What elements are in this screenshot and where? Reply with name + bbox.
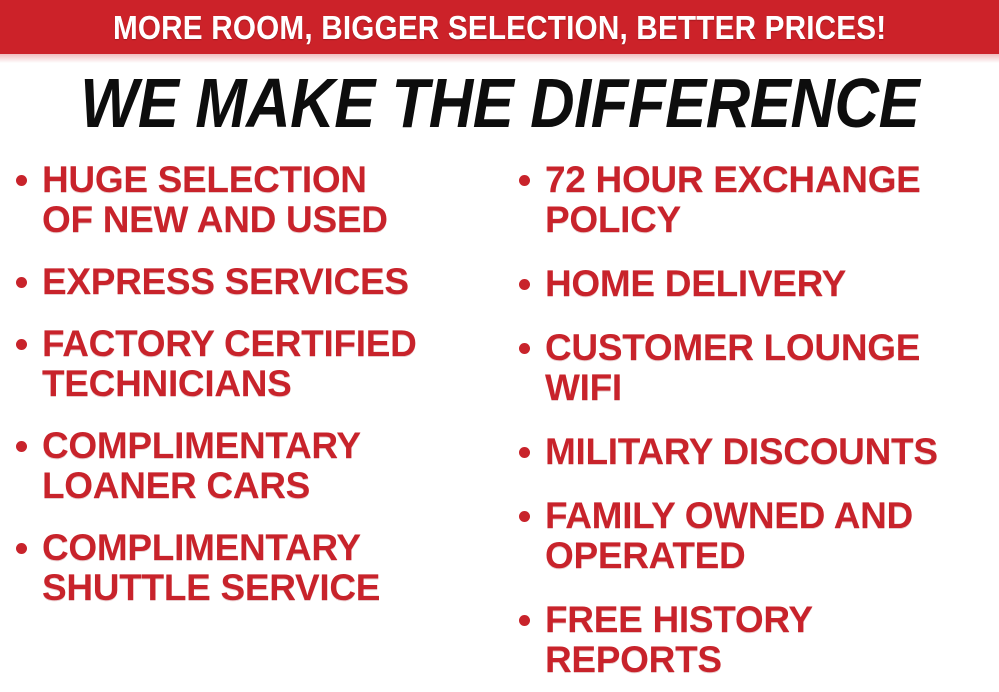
feature-label: MILITARY DISCOUNTS bbox=[545, 432, 997, 472]
list-item: COMPLIMENTARY SHUTTLE SERVICE bbox=[16, 528, 501, 608]
feature-label: HUGE SELECTION OF NEW AND USED bbox=[42, 160, 501, 240]
feature-label: COMPLIMENTARY LOANER CARS bbox=[42, 426, 501, 506]
feature-label: FREE HISTORY REPORTS bbox=[545, 600, 997, 680]
list-item: FAMILY OWNED AND OPERATED bbox=[519, 496, 997, 576]
feature-label: HOME DELIVERY bbox=[545, 264, 997, 304]
feature-label: FAMILY OWNED AND OPERATED bbox=[545, 496, 997, 576]
promo-banner-text: MORE ROOM, BIGGER SELECTION, BETTER PRIC… bbox=[113, 11, 886, 44]
feature-label: 72 HOUR EXCHANGE POLICY bbox=[545, 160, 997, 240]
list-item: COMPLIMENTARY LOANER CARS bbox=[16, 426, 501, 506]
list-item: FREE HISTORY REPORTS bbox=[519, 600, 997, 680]
features-columns: HUGE SELECTION OF NEW AND USED EXPRESS S… bbox=[0, 160, 999, 692]
bullet-dot-icon bbox=[519, 511, 530, 522]
promo-banner: MORE ROOM, BIGGER SELECTION, BETTER PRIC… bbox=[0, 0, 999, 54]
bullet-dot-icon bbox=[519, 279, 530, 290]
bullet-dot-icon bbox=[519, 615, 530, 626]
list-item: FACTORY CERTIFIED TECHNICIANS bbox=[16, 324, 501, 404]
bullet-dot-icon bbox=[519, 447, 530, 458]
bullet-dot-icon bbox=[519, 343, 530, 354]
headline-text: WE MAKE THE DIFFERENCE bbox=[80, 68, 919, 138]
feature-label: EXPRESS SERVICES bbox=[42, 262, 501, 302]
bullet-dot-icon bbox=[16, 339, 27, 350]
features-column-right: 72 HOUR EXCHANGE POLICY HOME DELIVERY CU… bbox=[505, 160, 999, 692]
advertisement-root: MORE ROOM, BIGGER SELECTION, BETTER PRIC… bbox=[0, 0, 999, 692]
bullet-dot-icon bbox=[16, 441, 27, 452]
bullet-dot-icon bbox=[16, 277, 27, 288]
bullet-dot-icon bbox=[16, 543, 27, 554]
feature-label: COMPLIMENTARY SHUTTLE SERVICE bbox=[42, 528, 501, 608]
list-item: MILITARY DISCOUNTS bbox=[519, 432, 997, 472]
features-column-left: HUGE SELECTION OF NEW AND USED EXPRESS S… bbox=[0, 160, 505, 692]
bullet-dot-icon bbox=[16, 175, 27, 186]
feature-label: CUSTOMER LOUNGE WIFI bbox=[545, 328, 997, 408]
list-item: CUSTOMER LOUNGE WIFI bbox=[519, 328, 997, 408]
list-item: 72 HOUR EXCHANGE POLICY bbox=[519, 160, 997, 240]
headline: WE MAKE THE DIFFERENCE bbox=[0, 68, 999, 138]
feature-label: FACTORY CERTIFIED TECHNICIANS bbox=[42, 324, 501, 404]
list-item: HOME DELIVERY bbox=[519, 264, 997, 304]
list-item: HUGE SELECTION OF NEW AND USED bbox=[16, 160, 501, 240]
list-item: EXPRESS SERVICES bbox=[16, 262, 501, 302]
banner-fade-divider bbox=[0, 54, 999, 63]
bullet-dot-icon bbox=[519, 175, 530, 186]
